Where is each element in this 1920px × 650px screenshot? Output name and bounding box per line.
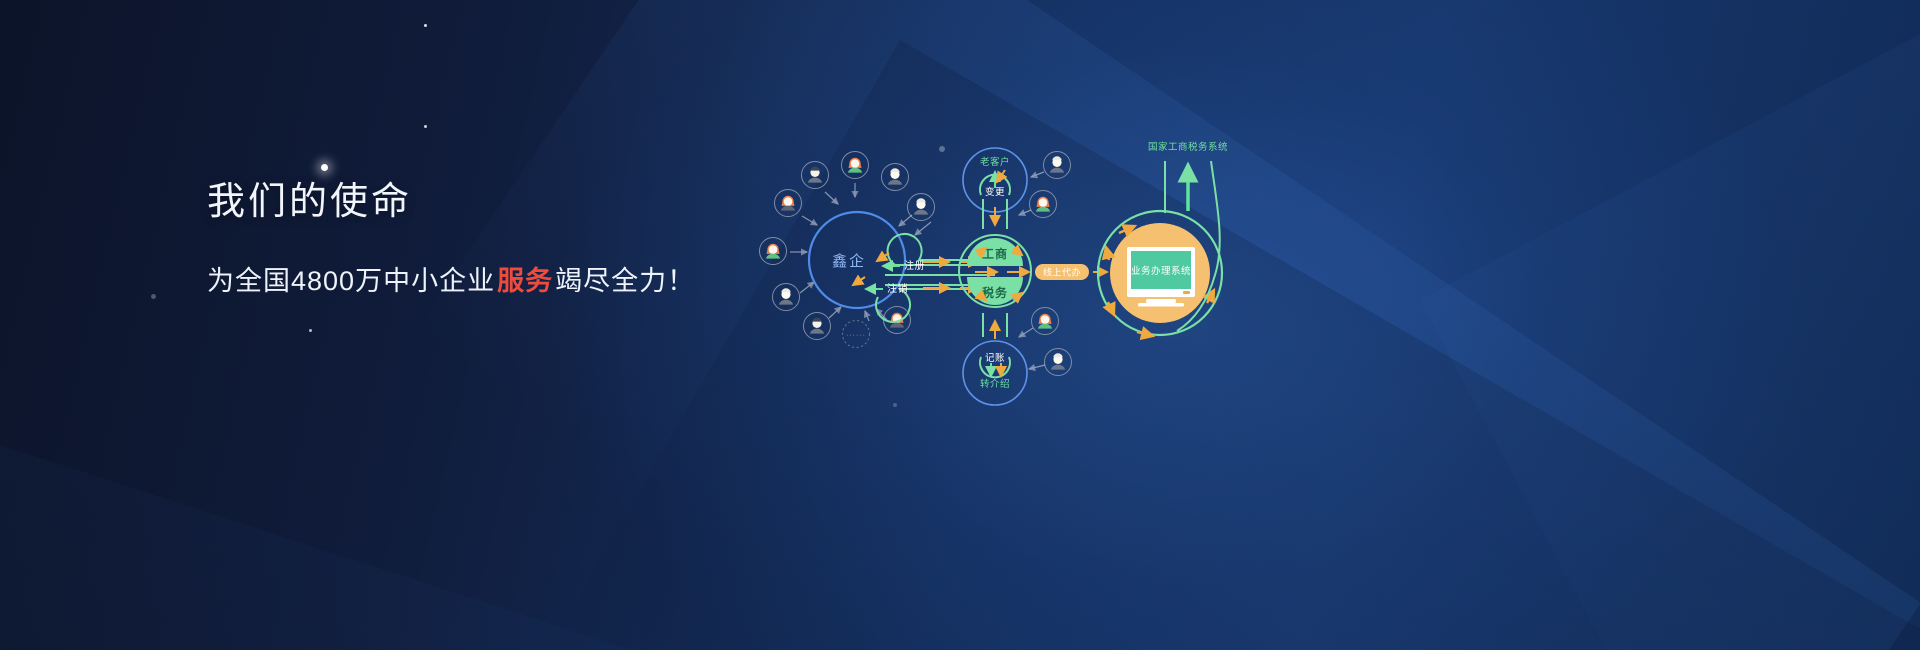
online-agency-badge-label: 线上代办 [1043,267,1081,278]
star-dot [309,329,312,332]
avatar [1030,191,1057,218]
avatar [802,162,829,189]
star-dot-glow [321,164,328,171]
hero-banner: 我们的使命 为全国4800万中小企业服务竭尽全力！ [0,0,1920,650]
star-dot [424,24,427,27]
avatar-placeholder-dots: ······ [846,332,866,339]
avatar [760,238,787,265]
referral-node: 记账 转介绍 [963,308,1072,406]
avatar [1044,152,1071,179]
avatar [882,164,909,191]
service-flow-diagram: ······ 鑫企 [745,125,1265,425]
returning-customer-label: 老客户 [980,156,1010,168]
page-title: 我们的使命 [207,178,827,227]
business-system-screen-label: 业务办理系统 [1131,265,1191,277]
flow-label-register: 注册 [904,259,925,272]
mission-copy: 我们的使命 为全国4800万中小企业服务竭尽全力！ [207,178,827,298]
business-system-node: 业务办理系统 [1098,211,1222,336]
referral-label: 转介绍 [980,378,1010,390]
avatar [908,194,935,221]
subtitle-post: 竭尽全力！ [555,266,695,296]
gov-hub-node: 工商 税务 [959,235,1031,307]
avatar [775,190,802,217]
flow-label-deregister: 注销 [887,282,908,295]
subtitle-pre: 为全国4800万中小企业 [207,266,495,296]
avatar [842,152,869,179]
core-label: 鑫企 [832,252,866,270]
star-dot [151,294,156,299]
customer-avatar-ring: ······ [760,152,935,348]
subtitle-highlight: 服务 [495,266,555,296]
hub-label-tax: 税务 [982,285,1008,300]
bookkeeping-label: 记账 [985,352,1005,364]
avatar [804,313,831,340]
mission-subtitle: 为全国4800万中小企业服务竭尽全力！ [207,259,827,298]
avatar [1045,349,1072,376]
online-agency-badge[interactable]: 线上代办 [1035,264,1107,280]
avatar [773,284,800,311]
national-system-label: 国家工商税务系统 [1148,141,1228,153]
returning-customer-node: 老客户 变更 [963,148,1027,229]
avatar [1032,308,1059,335]
star-dot [424,125,427,128]
